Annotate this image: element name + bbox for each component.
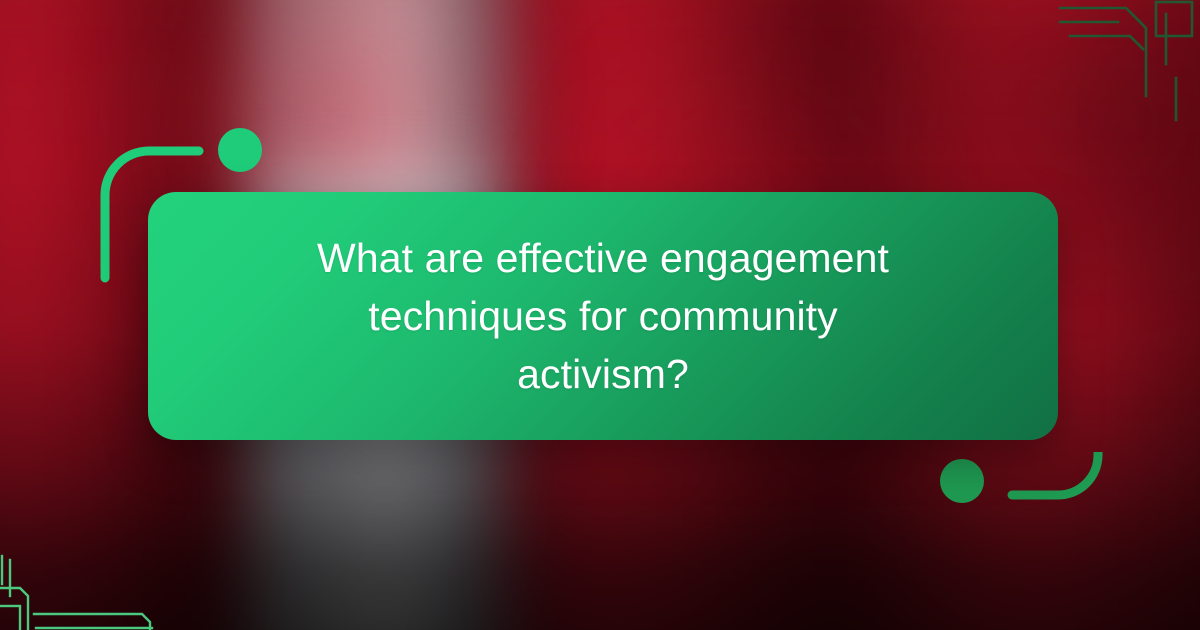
poster-canvas: What are effective engagement techniques…	[0, 0, 1200, 630]
question-text: What are effective engagement techniques…	[283, 229, 923, 404]
question-card[interactable]: What are effective engagement techniques…	[148, 192, 1058, 440]
